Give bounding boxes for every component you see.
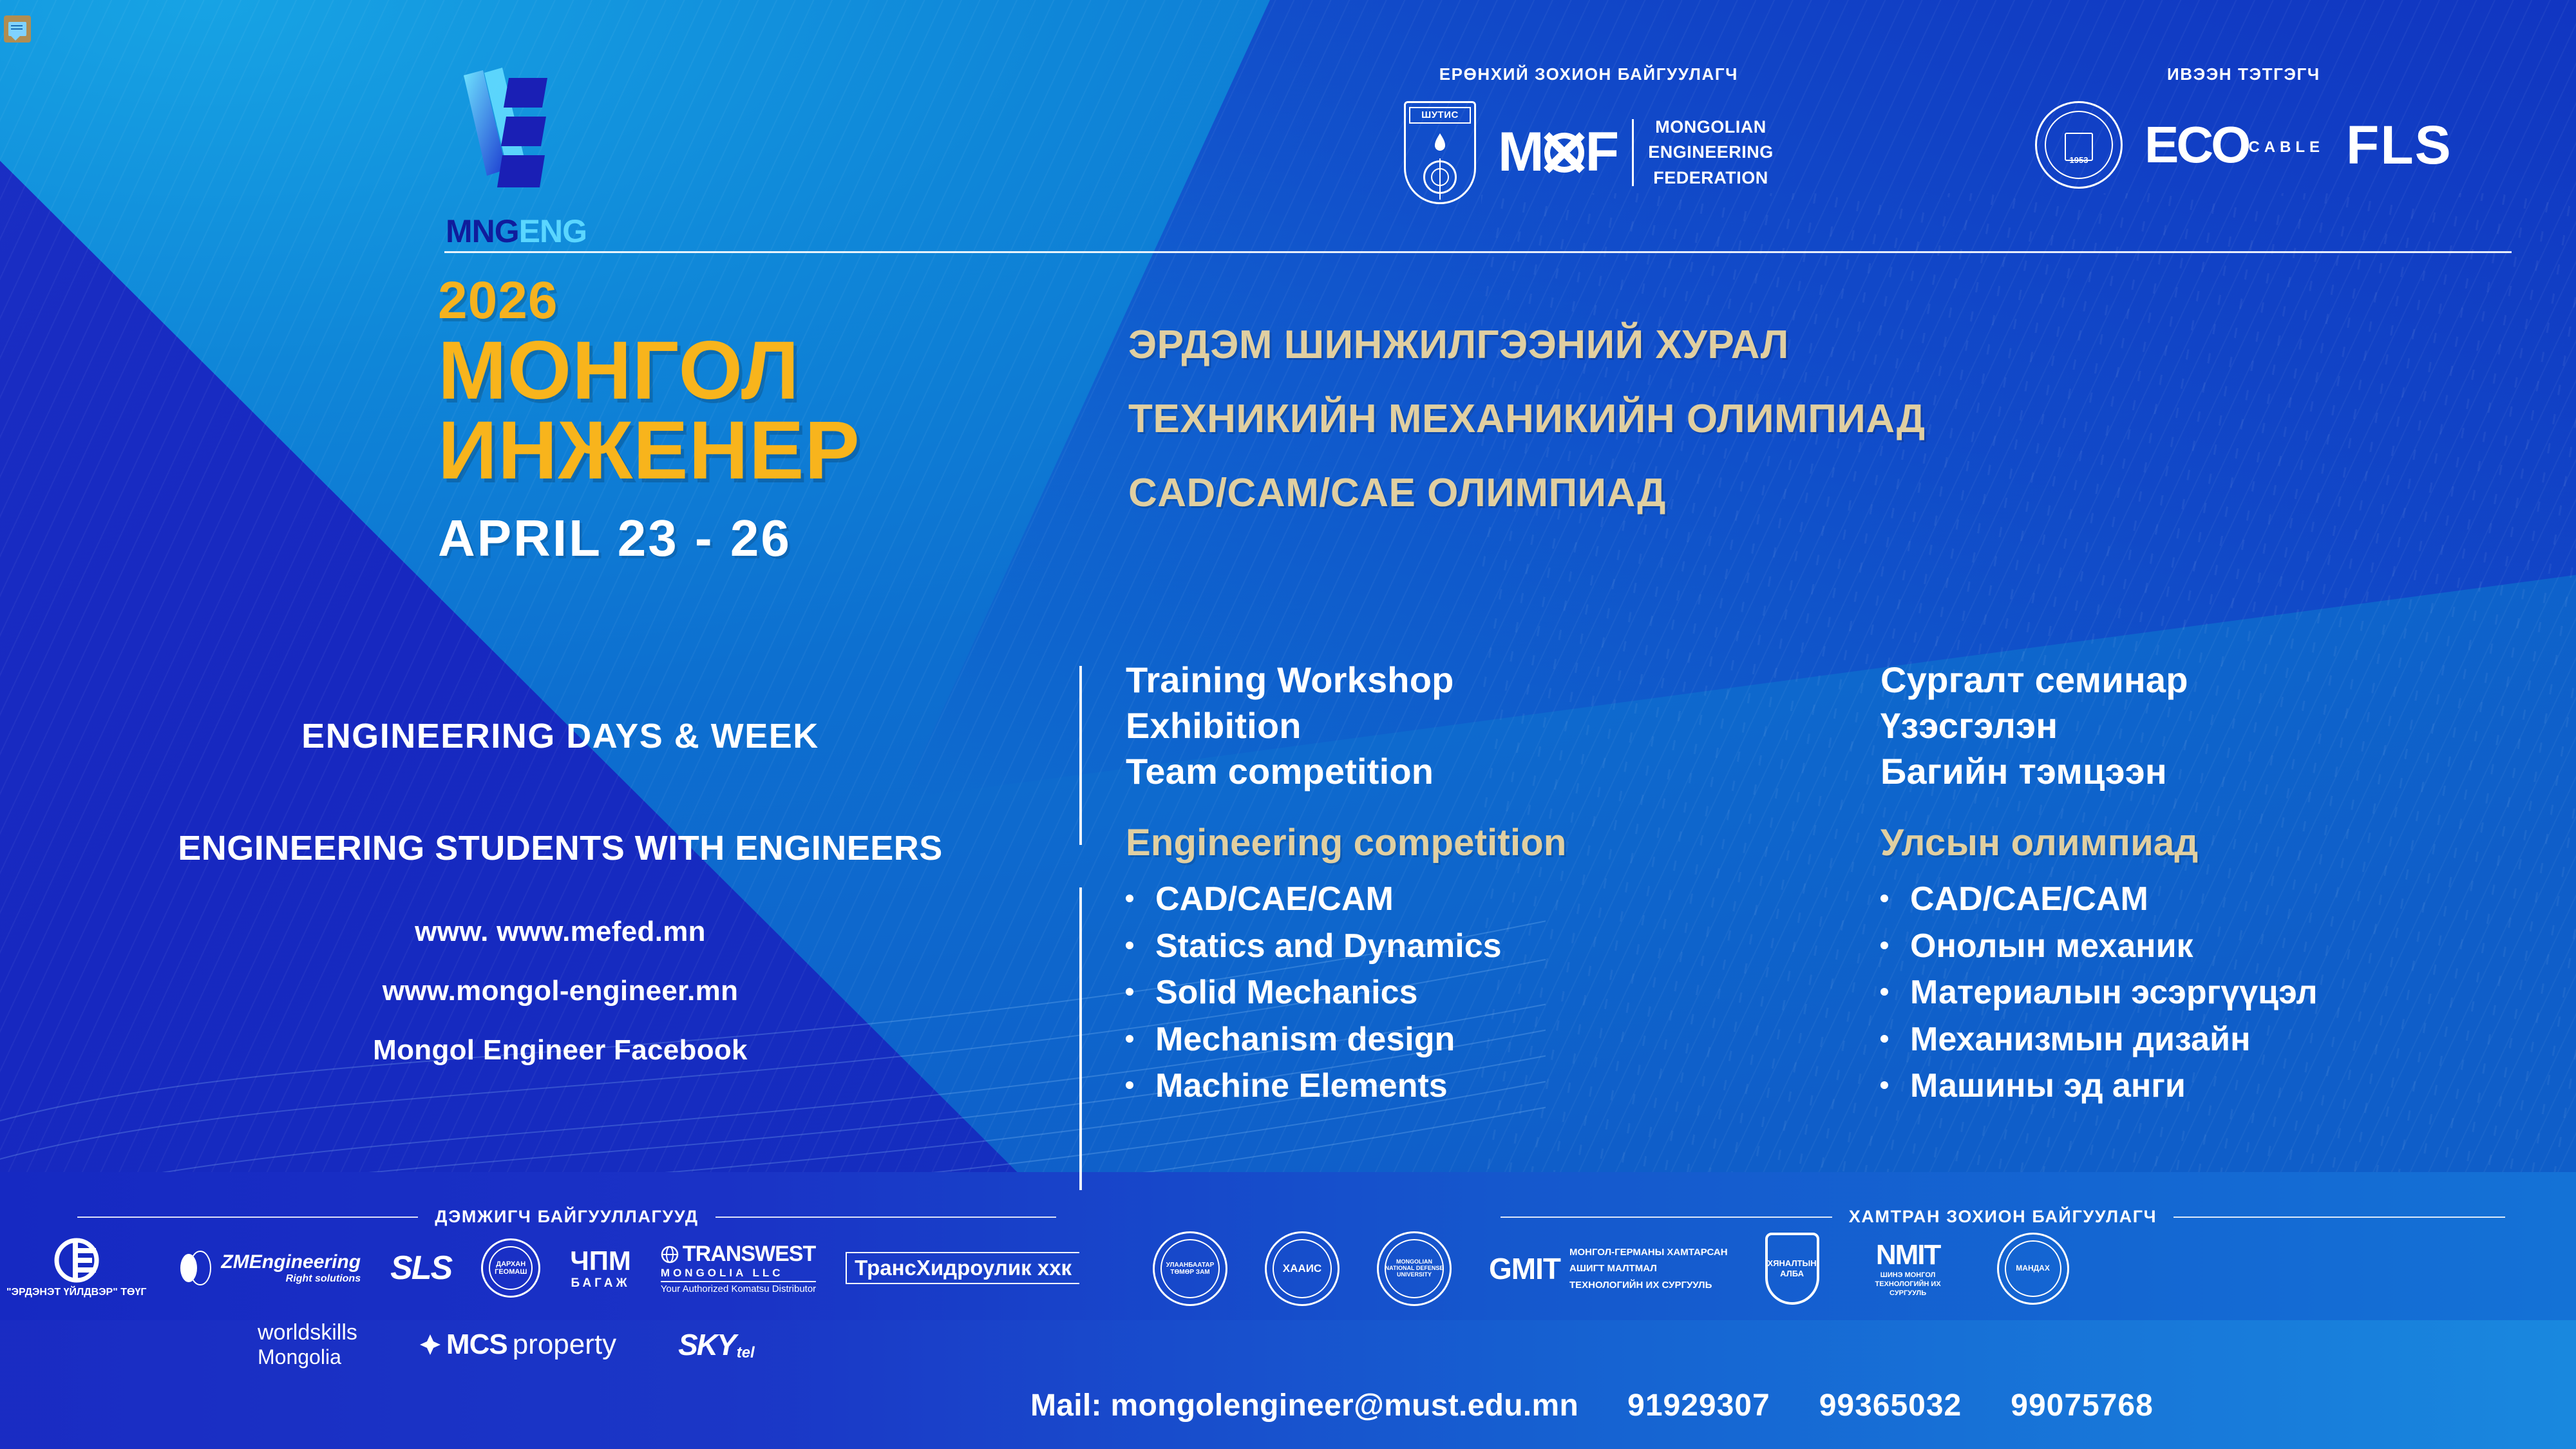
event-date: APRIL 23 - 26 bbox=[438, 509, 860, 568]
zm-wordmark: ZMEngineering bbox=[221, 1251, 361, 1273]
railway-seal-year: 1953 bbox=[2037, 155, 2121, 165]
left-column: ENGINEERING DAYS & WEEK ENGINEERING STUD… bbox=[58, 657, 1063, 1094]
trans-hydraulic-logo: ТрансХидроулик ххк bbox=[846, 1252, 1079, 1284]
link-mefed[interactable]: www. www.mefed.mn bbox=[58, 916, 1063, 948]
header-divider-rule bbox=[444, 251, 2512, 253]
engineering-days-heading: ENGINEERING DAYS & WEEK bbox=[58, 716, 1063, 756]
event-item-mechanics-olympiad: ТЕХНИКИЙН МЕХАНИКИЙН ОЛИМПИАД bbox=[1128, 396, 1926, 442]
mngeng-logo bbox=[444, 61, 605, 209]
eco-wordmark: ECO bbox=[2145, 122, 2248, 168]
contact-mail[interactable]: Mail: mongolengineer@must.edu.mn bbox=[1030, 1388, 1578, 1423]
activity-exhibition: Exhibition bbox=[1126, 703, 1821, 748]
event-title-line-1: МОНГОЛ bbox=[438, 331, 860, 411]
bottom-logo-row: worldskills Mongolia MCS property SKY te… bbox=[258, 1320, 1018, 1369]
eco-subtext: CABLE bbox=[2248, 138, 2324, 156]
coorganizer-logo-row: УЛААНБААТАР ТӨМӨР ЗАМ ХААИС MONGOLIAN NA… bbox=[1153, 1231, 2570, 1306]
link-facebook[interactable]: Mongol Engineer Facebook bbox=[58, 1034, 1063, 1066]
activity-uzesgelen: Үзэсгэлэн bbox=[1880, 703, 2576, 748]
list-item: Машины эд анги bbox=[1880, 1065, 2576, 1106]
bullet-label: Механизмын дизайн bbox=[1910, 1019, 2250, 1060]
nmit-logo: NMIT ШИНЭ МОНГОЛ ТЕХНОЛОГИЙН ИХ СУРГУУЛЬ bbox=[1857, 1239, 1960, 1298]
worldskills-wordmark: worldskills bbox=[258, 1320, 357, 1345]
eco-cable-logo: ECO CABLE bbox=[2145, 122, 2324, 168]
header: ЕРӨНХИЙ ЗОХИОН БАЙГУУЛАГЧ ШУТИС MF bbox=[0, 0, 2576, 258]
activity-training-workshop: Training Workshop bbox=[1126, 657, 1821, 703]
english-bullet-list: CAD/CAE/CAM Statics and Dynamics Solid M… bbox=[1126, 878, 1821, 1106]
supporters-header: ДЭМЖИГЧ БАЙГУУЛЛАГУУД bbox=[77, 1207, 1056, 1227]
gmit-line-2: АШИГТ МАЛТМАЛ bbox=[1569, 1260, 1728, 1277]
mef-line-3: FEDERATION bbox=[1648, 166, 1774, 191]
vertical-divider-top bbox=[1079, 666, 1082, 845]
mongolian-column: Сургалт семинар Үзэсгэлэн Багийн тэмцээн… bbox=[1880, 657, 2576, 1112]
erdenet-plant-logo: "ЭРДЭНЭТ ҮЙЛДВЭР" ТӨҮГ bbox=[6, 1238, 146, 1298]
organizer-group: ЕРӨНХИЙ ЗОХИОН БАЙГУУЛАГЧ ШУТИС MF bbox=[1404, 64, 1774, 204]
english-activity-list: Training Workshop Exhibition Team compet… bbox=[1126, 657, 1821, 794]
bullet-label: Материалын эсэргүүцэл bbox=[1910, 972, 2318, 1013]
list-item: CAD/CAE/CAM bbox=[1126, 878, 1821, 920]
mngeng-light-text: ENG bbox=[519, 213, 587, 249]
sponsor-logo-list: 1953 ECO CABLE FLS bbox=[2035, 101, 2452, 189]
khaais-seal: ХААИС bbox=[1265, 1231, 1340, 1306]
skytel-subtext: tel bbox=[737, 1344, 755, 1362]
ndu-label: MONGOLIAN NATIONAL DEFENSE UNIVERSITY bbox=[1379, 1259, 1450, 1278]
nmit-subtext: ШИНЭ МОНГОЛ ТЕХНОЛОГИЙН ИХ СУРГУУЛЬ bbox=[1857, 1271, 1960, 1298]
organizer-caption: ЕРӨНХИЙ ЗОХИОН БАЙГУУЛАГЧ bbox=[1404, 64, 1774, 84]
engineering-students-heading: ENGINEERING STUDENTS WITH ENGINEERS bbox=[58, 828, 1063, 868]
list-item: Онолын механик bbox=[1880, 925, 2576, 967]
contact-phone-1: 91929307 bbox=[1627, 1388, 1770, 1423]
chpm-subtext: БАГАЖ bbox=[571, 1276, 630, 1291]
engineering-competition-heading: Engineering competition bbox=[1126, 821, 1821, 864]
gear-icon bbox=[1544, 133, 1584, 173]
transwest-mongolia-logo: TRANSWEST MONGOLIA LLC Your Authorized K… bbox=[661, 1242, 816, 1294]
must-seal-logo: ШУТИС bbox=[1404, 101, 1476, 204]
fls-logo: FLS bbox=[2346, 114, 2452, 176]
bullet-dot-icon bbox=[1126, 895, 1133, 902]
list-item: CAD/CAE/CAM bbox=[1880, 878, 2576, 920]
mef-wordmark: MONGOLIAN ENGINEERING FEDERATION bbox=[1648, 115, 1774, 190]
khyanaltyn-alba-label: ХЯНАЛТЫН АЛБА bbox=[1768, 1258, 1817, 1278]
gmit-line-1: МОНГОЛ-ГЕРМАНЫ ХАМТАРСАН bbox=[1569, 1244, 1728, 1261]
mef-line-2: ENGINEERING bbox=[1648, 140, 1774, 165]
english-column: Training Workshop Exhibition Team compet… bbox=[1126, 657, 1821, 1112]
mandakh-university-seal: МАНДАХ bbox=[1997, 1233, 2069, 1305]
zm-mark-icon bbox=[176, 1248, 216, 1288]
list-item: Mechanism design bbox=[1126, 1019, 1821, 1060]
ub-railway-seal-logo: 1953 bbox=[2035, 101, 2123, 189]
mcs-property-logo: MCS property bbox=[419, 1329, 616, 1361]
erdenet-plant-label: "ЭРДЭНЭТ ҮЙЛДВЭР" ТӨҮГ bbox=[6, 1287, 146, 1298]
sponsor-group: ИВЭЭН ТЭТГЭГЧ 1953 ECO CABLE FLS bbox=[2035, 64, 2452, 189]
bullet-label: Онолын механик bbox=[1910, 925, 2193, 967]
activity-team-competition: Team competition bbox=[1126, 748, 1821, 794]
link-list: www. www.mefed.mn www.mongol-engineer.mn… bbox=[58, 916, 1063, 1066]
ulaanbaatar-railway-seal: УЛААНБААТАР ТӨМӨР ЗАМ bbox=[1153, 1231, 1227, 1306]
skytel-wordmark: SKY bbox=[678, 1327, 735, 1362]
mcs-subtext: property bbox=[513, 1329, 616, 1361]
mef-line-1: MONGOLIAN bbox=[1648, 115, 1774, 140]
link-mongol-engineer[interactable]: www.mongol-engineer.mn bbox=[58, 975, 1063, 1007]
bullet-dot-icon bbox=[1880, 1081, 1888, 1089]
bullet-label: CAD/CAE/CAM bbox=[1155, 878, 1394, 920]
bullet-label: Statics and Dynamics bbox=[1155, 925, 1502, 967]
vertical-divider-bottom bbox=[1079, 887, 1082, 1190]
zm-tagline: Right solutions bbox=[221, 1273, 361, 1285]
contact-phone-3: 99075768 bbox=[2011, 1388, 2154, 1423]
list-item: Механизмын дизайн bbox=[1880, 1019, 2576, 1060]
supporter-logo-row: "ЭРДЭНЭТ ҮЙЛДВЭР" ТӨҮГ ZMEngineering Rig… bbox=[6, 1238, 1140, 1298]
mongolian-bullet-list: CAD/CAE/CAM Онолын механик Материалын эс… bbox=[1880, 878, 2576, 1106]
transwest-subtext: MONGOLIA LLC bbox=[661, 1267, 784, 1280]
mngeng-dark-text: MNG bbox=[446, 213, 519, 249]
coorganizers-header: ХАМТРАН ЗОХИОН БАЙГУУЛАГЧ bbox=[1501, 1207, 2505, 1227]
worldskills-subtext: Mongolia bbox=[258, 1345, 341, 1369]
event-item-conference: ЭРДЭМ ШИНЖИЛГЭЭНИЙ ХУРАЛ bbox=[1128, 322, 1926, 368]
list-item: Machine Elements bbox=[1126, 1065, 1821, 1106]
sponsor-caption: ИВЭЭН ТЭТГЭГЧ bbox=[2035, 64, 2452, 84]
bullet-dot-icon bbox=[1880, 1035, 1888, 1043]
supporters-caption: ДЭМЖИГЧ БАЙГУУЛЛАГУУД bbox=[435, 1207, 698, 1227]
bullet-dot-icon bbox=[1880, 895, 1888, 902]
khaais-label: ХААИС bbox=[1279, 1263, 1325, 1275]
mef-logo: MF MONGOLIAN ENGINEERING FEDERATION bbox=[1498, 115, 1774, 190]
national-defense-university-seal: MONGOLIAN NATIONAL DEFENSE UNIVERSITY bbox=[1377, 1231, 1452, 1306]
worldskills-mongolia-logo: worldskills Mongolia bbox=[258, 1320, 357, 1369]
zm-engineering-logo: ZMEngineering Right solutions bbox=[176, 1248, 361, 1288]
mongolian-activity-list: Сургалт семинар Үзэсгэлэн Багийн тэмцээн bbox=[1880, 657, 2576, 794]
mcs-star-icon bbox=[419, 1334, 441, 1356]
activity-bagiin-temtseen: Багийн тэмцээн bbox=[1880, 748, 2576, 794]
khyanaltyn-alba-logo: ХЯНАЛТЫН АЛБА bbox=[1765, 1233, 1819, 1305]
darkhan-geomash-logo: ДАРХАН ГЕОМАШ bbox=[481, 1238, 540, 1298]
gmit-logo: GMIT МОНГОЛ-ГЕРМАНЫ ХАМТАРСАН АШИГТ МАЛТ… bbox=[1489, 1244, 1728, 1294]
footer: ДЭМЖИГЧ БАЙГУУЛЛАГУУД ХАМТРАН ЗОХИОН БАЙ… bbox=[0, 1191, 2576, 1449]
flame-icon bbox=[1429, 132, 1451, 154]
contact-info: Mail: mongolengineer@must.edu.mn 9192930… bbox=[1030, 1388, 2154, 1423]
mngeng-wordmark: MNGENG bbox=[446, 213, 587, 250]
gmit-line-3: ТЕХНОЛОГИЙН ИХ СУРГУУЛЬ bbox=[1569, 1277, 1728, 1294]
bullet-label: Solid Mechanics bbox=[1155, 972, 1417, 1013]
coorganizers-caption: ХАМТРАН ЗОХИОН БАЙГУУЛАГЧ bbox=[1849, 1207, 2157, 1227]
bullet-label: Машины эд анги bbox=[1910, 1065, 2186, 1106]
list-item: Материалын эсэргүүцэл bbox=[1880, 972, 2576, 1013]
event-year: 2026 bbox=[438, 270, 860, 331]
chpm-wordmark: ЧПМ bbox=[570, 1245, 631, 1276]
bullet-dot-icon bbox=[1126, 942, 1133, 949]
erdenet-mark-icon bbox=[47, 1238, 106, 1283]
bullet-dot-icon bbox=[1880, 942, 1888, 949]
event-list: ЭРДЭМ ШИНЖИЛГЭЭНИЙ ХУРАЛ ТЕХНИКИЙН МЕХАН… bbox=[1128, 322, 1926, 544]
event-item-cad-olympiad: CAD/CAM/CAE ОЛИМПИАД bbox=[1128, 470, 1926, 516]
bullet-dot-icon bbox=[1126, 1035, 1133, 1043]
gmit-wordmark: GMIT bbox=[1489, 1251, 1560, 1286]
title-block: 2026 МОНГОЛ ИНЖЕНЕР APRIL 23 - 26 bbox=[438, 270, 860, 568]
bullet-label: Mechanism design bbox=[1155, 1019, 1455, 1060]
bullet-dot-icon bbox=[1126, 1081, 1133, 1089]
mandakh-label: МАНДАХ bbox=[2012, 1264, 2054, 1273]
darkhan-geomash-label: ДАРХАН ГЕОМАШ bbox=[483, 1260, 538, 1276]
nmit-wordmark: NMIT bbox=[1876, 1239, 1940, 1271]
ulsyn-olympiad-heading: Улсын олимпиад bbox=[1880, 821, 2576, 864]
mcs-wordmark: MCS bbox=[446, 1329, 507, 1361]
bullet-dot-icon bbox=[1880, 988, 1888, 996]
main-content: ENGINEERING DAYS & WEEK ENGINEERING STUD… bbox=[0, 657, 2576, 1191]
activity-surgalt-seminar: Сургалт семинар bbox=[1880, 657, 2576, 703]
bullet-label: Machine Elements bbox=[1155, 1065, 1448, 1106]
transwest-note: Your Authorized Komatsu Distributor bbox=[661, 1281, 816, 1294]
event-title-line-2: ИНЖЕНЕР bbox=[438, 411, 860, 491]
sls-logo: SLS bbox=[390, 1249, 451, 1287]
chpm-bagazh-logo: ЧПМ БАГАЖ bbox=[570, 1245, 631, 1291]
list-item: Statics and Dynamics bbox=[1126, 925, 1821, 967]
transwest-wordmark: TRANSWEST bbox=[683, 1242, 815, 1267]
contact-phone-2: 99365032 bbox=[1819, 1388, 1962, 1423]
skytel-logo: SKY tel bbox=[678, 1327, 755, 1362]
organizer-logo-list: ШУТИС MF MONGOLIAN ENGINEERING FEDERATIO… bbox=[1404, 101, 1774, 204]
must-seal-label: ШУТИС bbox=[1409, 107, 1471, 124]
globe-icon bbox=[661, 1245, 679, 1264]
ub-railway-label: УЛААНБААТАР ТӨМӨР ЗАМ bbox=[1155, 1262, 1226, 1276]
mef-monogram: MF bbox=[1498, 120, 1618, 184]
list-item: Solid Mechanics bbox=[1126, 972, 1821, 1013]
bullet-dot-icon bbox=[1126, 988, 1133, 996]
bullet-label: CAD/CAE/CAM bbox=[1910, 878, 2148, 920]
